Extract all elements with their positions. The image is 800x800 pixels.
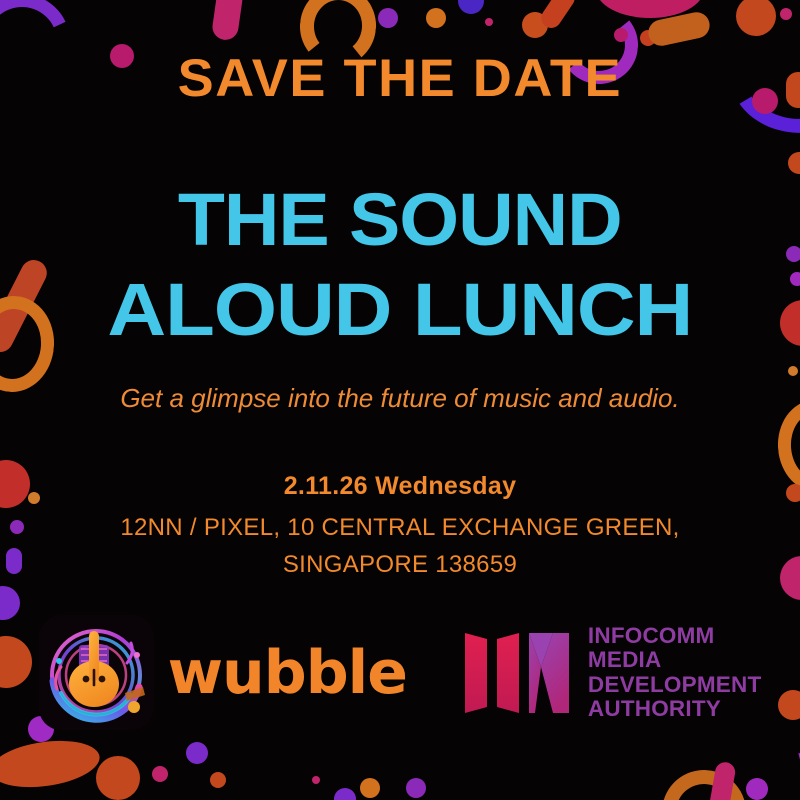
save-the-date-eyebrow: SAVE THE DATE [178, 52, 622, 105]
event-venue-line-1: 12NN / PIXEL, 10 CENTRAL EXCHANGE GREEN, [120, 511, 679, 546]
event-date: 2.11.26 Wednesday [120, 472, 679, 501]
event-title: THE SOUND ALOUD LUNCH [134, 105, 666, 347]
event-details: 2.11.26 Wednesday 12NN / PIXEL, 10 CENTR… [120, 472, 679, 583]
event-title-line-1: THE SOUND [124, 183, 677, 257]
save-the-date-poster: SAVE THE DATE THE SOUND ALOUD LUNCH Get … [0, 0, 800, 800]
event-tagline: Get a glimpse into the future of music a… [120, 383, 679, 414]
event-venue-line-2: SINGAPORE 138659 [120, 548, 679, 583]
event-title-line-2: ALOUD LUNCH [108, 273, 693, 347]
